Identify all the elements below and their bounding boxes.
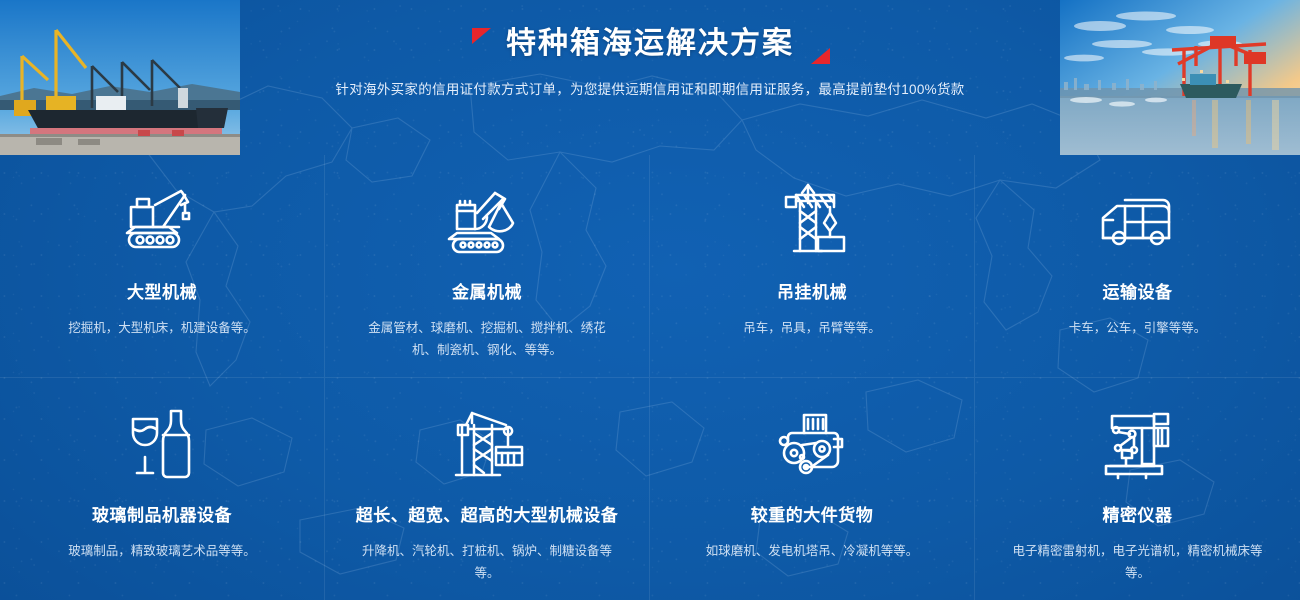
- tower-crane-icon: [772, 179, 852, 265]
- page-subtitle: 针对海外买家的信用证付款方式订单，为您提供远期信用证和即期信用证服务，最高提前垫…: [240, 80, 1060, 100]
- category-card[interactable]: 较重的大件货物 如球磨机、发电机塔吊、冷凝机等等。: [650, 378, 975, 600]
- category-title: 大型机械: [127, 281, 197, 305]
- category-desc: 金属管材、球磨机、挖掘机、搅拌机、绣花机、制瓷机、钢化、等等。: [362, 317, 612, 361]
- category-card[interactable]: 吊挂机械 吊车，吊具，吊臂等等。: [650, 155, 975, 378]
- category-card[interactable]: 玻璃制品机器设备 玻璃制品，精致玻璃艺术品等等。: [0, 378, 325, 600]
- banner-header: 特种箱海运解决方案 针对海外买家的信用证付款方式订单，为您提供远期信用证和即期信…: [0, 0, 1300, 155]
- category-desc: 升降机、汽轮机、打桩机、锅炉、制糖设备等等。: [362, 540, 612, 584]
- category-title: 玻璃制品机器设备: [92, 504, 232, 528]
- page-title: 特种箱海运解决方案: [506, 24, 794, 64]
- category-card[interactable]: 大型机械 挖掘机，大型机床，机建设备等。: [0, 155, 325, 378]
- category-desc: 吊车，吊具，吊臂等等。: [743, 317, 881, 339]
- category-title: 超长、超宽、超高的大型机械设备: [356, 504, 619, 528]
- engine-icon: [772, 402, 852, 488]
- title-block: 特种箱海运解决方案 针对海外买家的信用证付款方式订单，为您提供远期信用证和即期信…: [240, 0, 1060, 155]
- crawler-crane-icon: [119, 179, 205, 265]
- red-triangle-left-icon: [472, 28, 491, 44]
- container-terminal-photo: [1060, 0, 1300, 155]
- category-title: 运输设备: [1103, 281, 1173, 305]
- category-desc: 如球磨机、发电机塔吊、冷凝机等等。: [706, 540, 919, 562]
- category-card[interactable]: 超长、超宽、超高的大型机械设备 升降机、汽轮机、打桩机、锅炉、制糖设备等等。: [325, 378, 650, 600]
- category-title: 精密仪器: [1103, 504, 1173, 528]
- drill-press-icon: [1096, 402, 1180, 488]
- category-desc: 玻璃制品，精致玻璃艺术品等等。: [68, 540, 256, 562]
- category-title: 较重的大件货物: [751, 504, 874, 528]
- promo-banner: 特种箱海运解决方案 针对海外买家的信用证付款方式订单，为您提供远期信用证和即期信…: [0, 0, 1300, 600]
- category-grid: 大型机械 挖掘机，大型机床，机建设备等。: [0, 155, 1300, 600]
- category-desc: 挖掘机，大型机床，机建设备等。: [68, 317, 256, 339]
- title-row: 特种箱海运解决方案: [464, 24, 836, 64]
- gantry-crane-container-icon: [444, 402, 530, 488]
- category-card[interactable]: 运输设备 卡车，公车，引擎等等。: [975, 155, 1300, 378]
- category-title: 吊挂机械: [777, 281, 847, 305]
- category-desc: 电子精密雷射机，电子光谱机，精密机械床等等。: [1013, 540, 1263, 584]
- red-triangle-right-icon: [811, 48, 830, 64]
- category-card[interactable]: 精密仪器 电子精密雷射机，电子光谱机，精密机械床等等。: [975, 378, 1300, 600]
- category-desc: 卡车，公车，引擎等等。: [1069, 317, 1207, 339]
- category-title: 金属机械: [452, 281, 522, 305]
- bus-icon: [1095, 179, 1181, 265]
- port-ship-photo: [0, 0, 240, 155]
- category-card[interactable]: 金属机械 金属管材、球磨机、挖掘机、搅拌机、绣花机、制瓷机、钢化、等等。: [325, 155, 650, 378]
- excavator-icon: [443, 179, 531, 265]
- glassware-icon: [127, 402, 197, 488]
